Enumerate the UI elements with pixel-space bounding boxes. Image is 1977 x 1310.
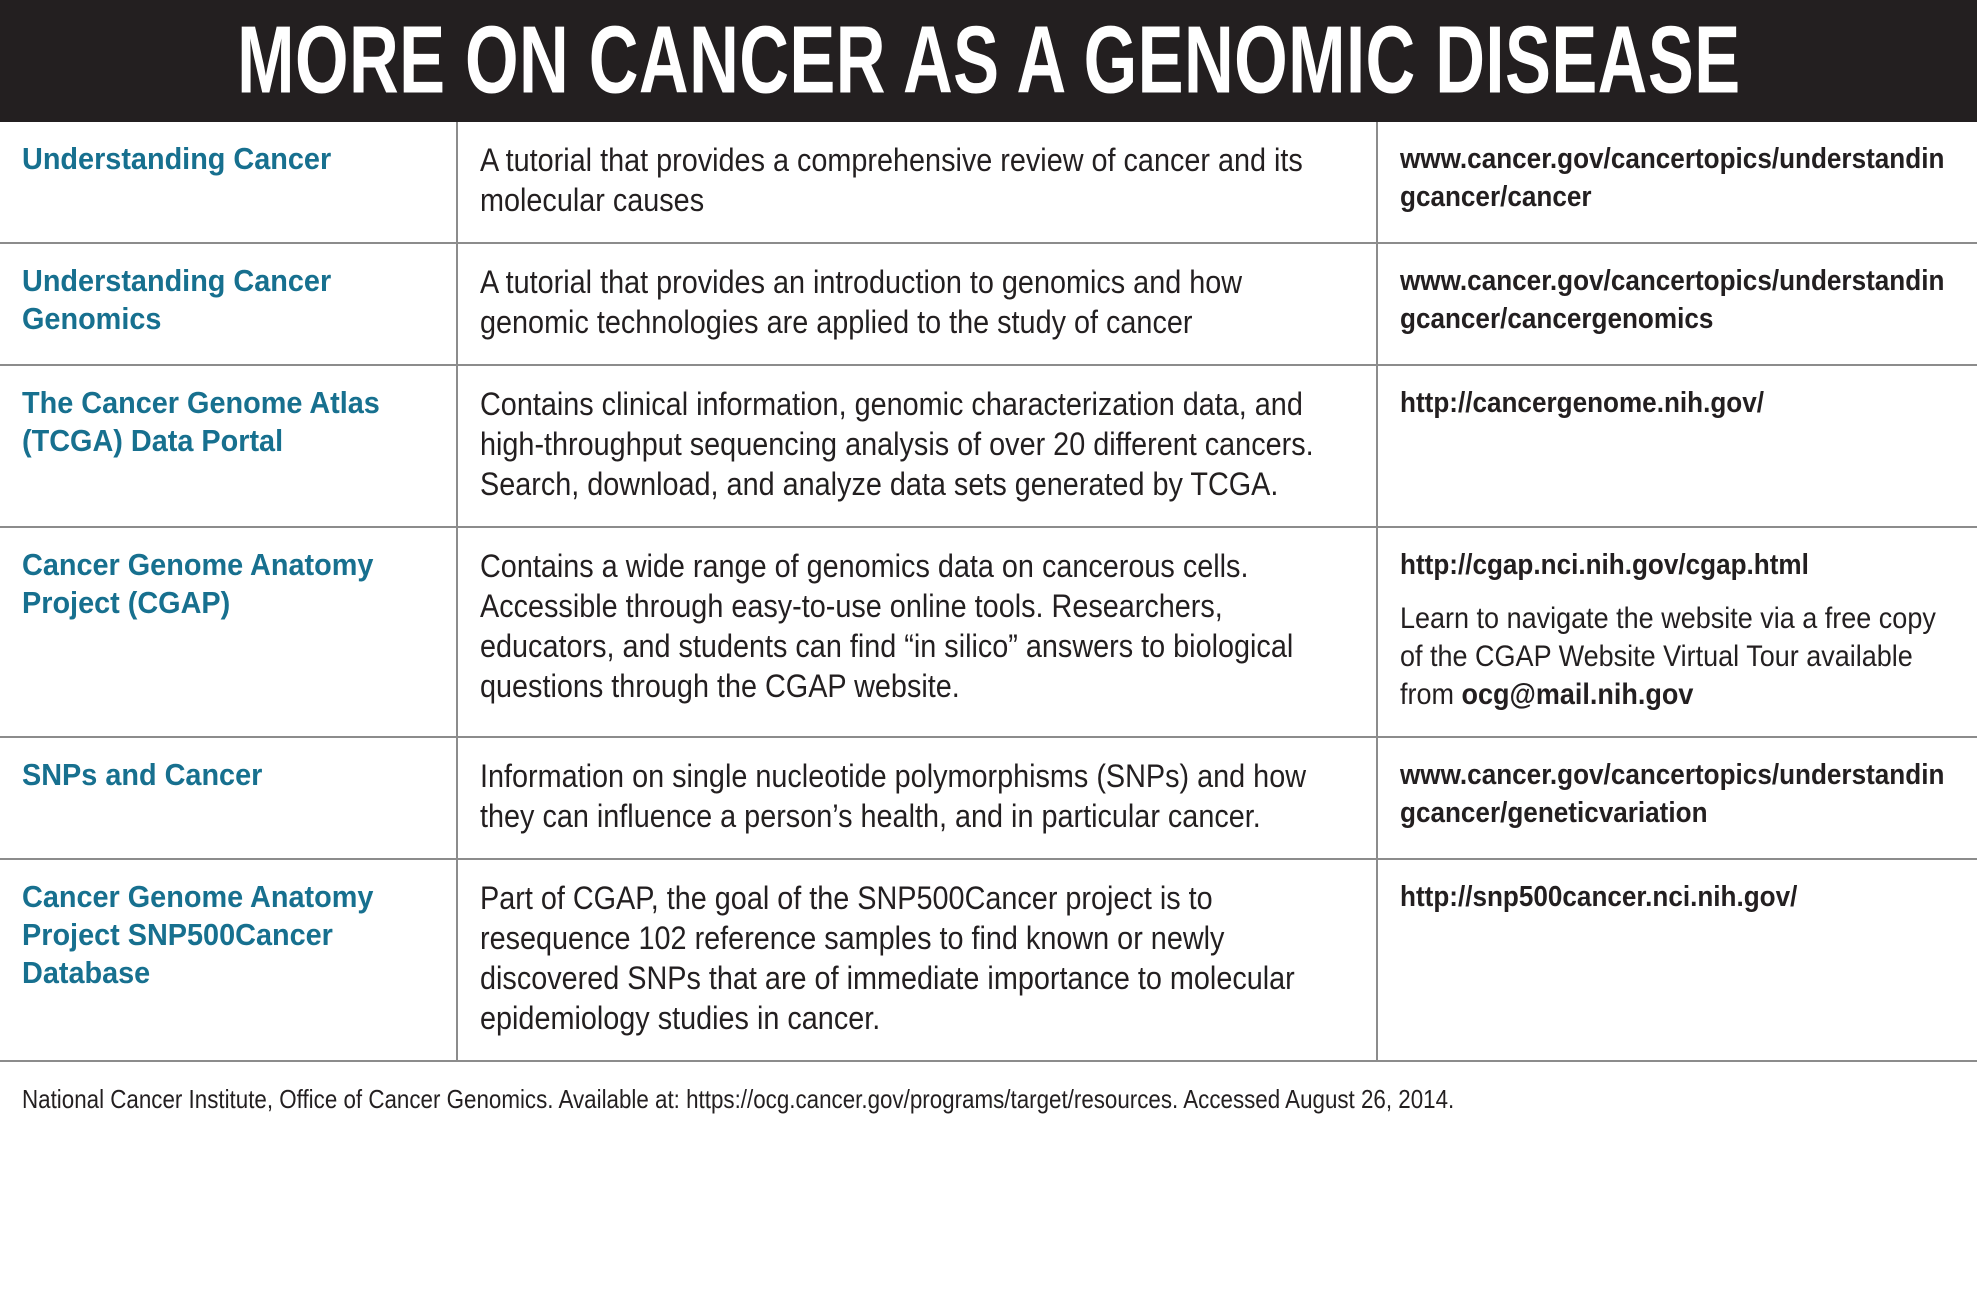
resource-description: A tutorial that provides an introduction… (480, 262, 1353, 342)
resource-name: Understanding Cancer (22, 140, 436, 178)
table-row: SNPs and Cancer Information on single nu… (0, 737, 1977, 859)
resource-url-cell: www.cancer.gov/cancertopics/understandin… (1377, 737, 1977, 859)
resource-name-cell: Cancer Genome Anatomy Project (CGAP) (0, 527, 457, 737)
resource-description-cell: A tutorial that provides a comprehensive… (457, 122, 1377, 243)
resource-description-cell: Information on single nucleotide polymor… (457, 737, 1377, 859)
resource-url-note: Learn to navigate the website via a free… (1400, 600, 1954, 714)
resource-url-cell: http://snp500cancer.nci.nih.gov/ (1377, 859, 1977, 1061)
resource-description: Information on single nucleotide polymor… (480, 756, 1353, 836)
resource-name: Understanding Cancer Genomics (22, 262, 436, 338)
resource-description-cell: Contains a wide range of genomics data o… (457, 527, 1377, 737)
resource-description: Contains a wide range of genomics data o… (480, 546, 1353, 706)
resource-description: Contains clinical information, genomic c… (480, 384, 1353, 504)
source-citation: National Cancer Institute, Office of Can… (22, 1084, 1950, 1114)
page-title: MORE ON CANCER AS A GENOMIC DISEASE (237, 12, 1740, 109)
resource-url[interactable]: www.cancer.gov/cancertopics/understandin… (1400, 756, 1954, 832)
resource-url[interactable]: www.cancer.gov/cancertopics/understandin… (1400, 262, 1954, 338)
table-row: The Cancer Genome Atlas (TCGA) Data Port… (0, 365, 1977, 527)
resource-name-cell: SNPs and Cancer (0, 737, 457, 859)
resource-description-cell: Contains clinical information, genomic c… (457, 365, 1377, 527)
resource-name: Cancer Genome Anatomy Project SNP500Canc… (22, 878, 436, 992)
title-banner: MORE ON CANCER AS A GENOMIC DISEASE (0, 0, 1977, 122)
infographic-root: MORE ON CANCER AS A GENOMIC DISEASE Unde… (0, 0, 1977, 1310)
resources-table-body: Understanding Cancer A tutorial that pro… (0, 122, 1977, 1061)
table-row: Understanding Cancer Genomics A tutorial… (0, 243, 1977, 365)
resource-url[interactable]: http://cgap.nci.nih.gov/cgap.html (1400, 546, 1954, 584)
resource-url[interactable]: http://cancergenome.nih.gov/ (1400, 384, 1954, 422)
resource-description: Part of CGAP, the goal of the SNP500Canc… (480, 878, 1353, 1038)
resource-name: The Cancer Genome Atlas (TCGA) Data Port… (22, 384, 436, 460)
resource-description: A tutorial that provides a comprehensive… (480, 140, 1353, 220)
resource-url-cell: www.cancer.gov/cancertopics/understandin… (1377, 122, 1977, 243)
resource-url-note-email[interactable]: ocg@mail.nih.gov (1462, 678, 1694, 711)
footer: National Cancer Institute, Office of Can… (0, 1062, 1977, 1114)
resource-url[interactable]: www.cancer.gov/cancertopics/understandin… (1400, 140, 1954, 216)
resource-url-cell: http://cgap.nci.nih.gov/cgap.html Learn … (1377, 527, 1977, 737)
table-row: Cancer Genome Anatomy Project SNP500Canc… (0, 859, 1977, 1061)
resource-url-cell: www.cancer.gov/cancertopics/understandin… (1377, 243, 1977, 365)
resource-name-cell: Understanding Cancer Genomics (0, 243, 457, 365)
table-row: Understanding Cancer A tutorial that pro… (0, 122, 1977, 243)
resource-url[interactable]: http://snp500cancer.nci.nih.gov/ (1400, 878, 1954, 916)
table-row: Cancer Genome Anatomy Project (CGAP) Con… (0, 527, 1977, 737)
resource-url-cell: http://cancergenome.nih.gov/ (1377, 365, 1977, 527)
resource-name-cell: The Cancer Genome Atlas (TCGA) Data Port… (0, 365, 457, 527)
resource-name-cell: Cancer Genome Anatomy Project SNP500Canc… (0, 859, 457, 1061)
resource-name: Cancer Genome Anatomy Project (CGAP) (22, 546, 436, 622)
resource-description-cell: Part of CGAP, the goal of the SNP500Canc… (457, 859, 1377, 1061)
resources-table: Understanding Cancer A tutorial that pro… (0, 122, 1977, 1062)
resource-name-cell: Understanding Cancer (0, 122, 457, 243)
resource-name: SNPs and Cancer (22, 756, 436, 794)
resource-description-cell: A tutorial that provides an introduction… (457, 243, 1377, 365)
